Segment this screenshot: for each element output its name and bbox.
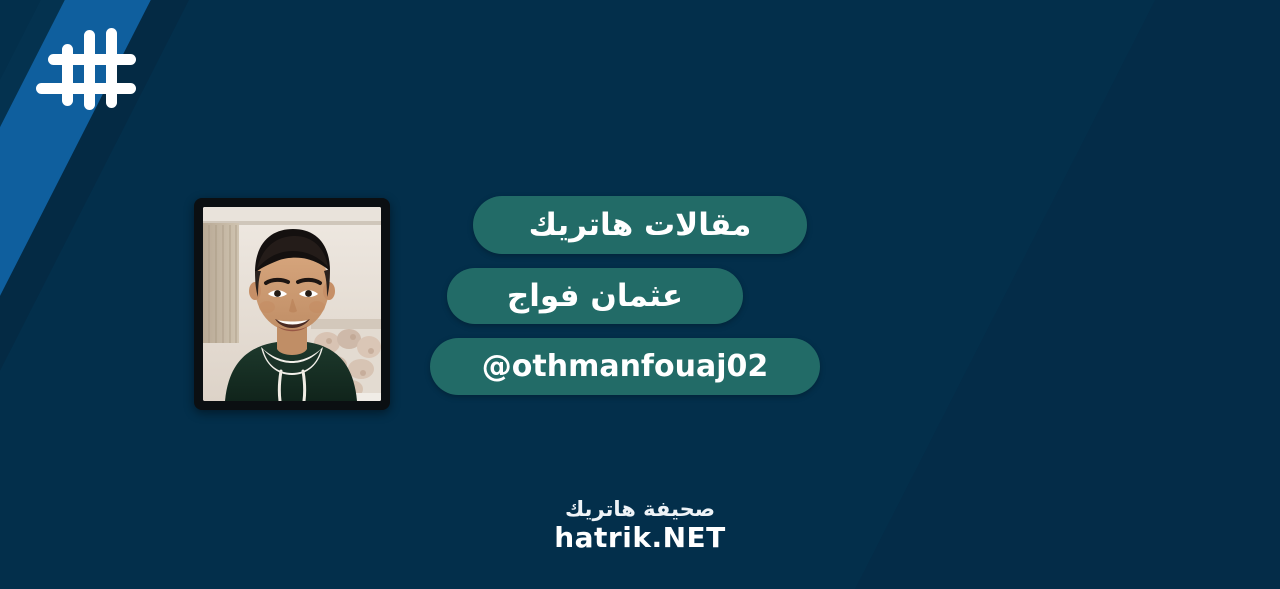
pill-section-label[interactable]: مقالات هاتريك [473,196,808,254]
hatrik-hash-logo[interactable] [34,28,154,118]
footer-wordmark: صحيفة هاتريك hatrik.NET [0,498,1280,554]
pill-author-handle[interactable]: othmanfouaj02@ [430,338,820,395]
footer-domain-name: hatrik.NET [0,522,1280,554]
author-card: مقالات هاتريك عثمان فواج othmanfouaj02@ … [0,0,1280,589]
info-pill-stack: مقالات هاتريك عثمان فواج othmanfouaj02@ [0,196,1280,395]
footer-arabic-name: صحيفة هاتريك [0,498,1280,521]
pill-author-name[interactable]: عثمان فواج [447,268,743,324]
